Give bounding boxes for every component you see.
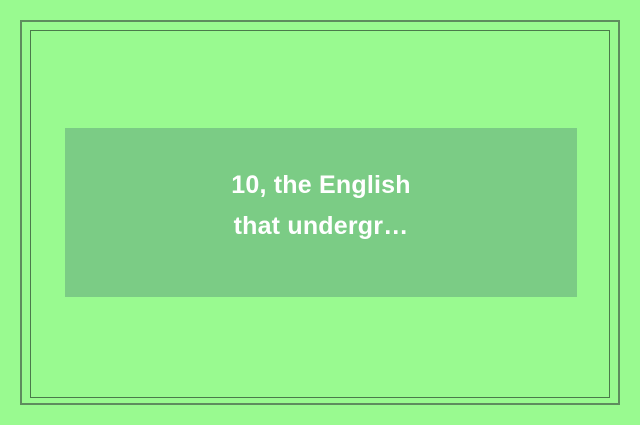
panel-text-line-1: 10, the English	[231, 165, 410, 206]
slide-canvas: 10, the English that undergr…	[0, 0, 640, 425]
content-panel: 10, the English that undergr…	[65, 128, 577, 297]
panel-text-line-2: that undergr…	[234, 206, 409, 247]
